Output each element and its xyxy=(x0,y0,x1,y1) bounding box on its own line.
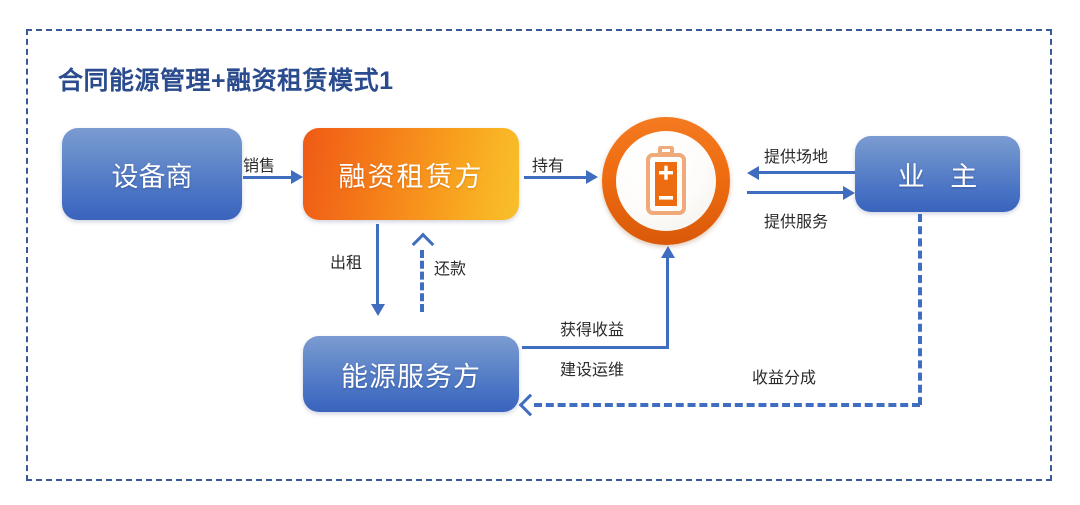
edge-label-repayment: 还款 xyxy=(434,255,466,279)
edge-line-esco-to-asset-horizontal xyxy=(522,346,669,349)
node-owner[interactable]: 业 主 xyxy=(855,136,1020,212)
node-equipment-supplier-label: 设备商 xyxy=(112,155,193,194)
node-energy-service-provider[interactable]: 能源服务方 xyxy=(303,336,519,412)
edge-line-provide-site xyxy=(759,171,855,174)
edge-line-repayment xyxy=(420,250,424,312)
edge-line-revenue-share-horizontal xyxy=(534,403,920,407)
edge-line-revenue-share-vertical xyxy=(918,214,922,405)
node-owner-label: 业 主 xyxy=(898,155,987,194)
edge-label-provide-service: 提供服务 xyxy=(764,208,828,232)
battery-icon xyxy=(643,146,689,216)
node-energy-storage-asset[interactable] xyxy=(602,117,730,245)
diagram-title: 合同能源管理+融资租赁模式1 xyxy=(58,61,394,97)
node-equipment-supplier[interactable]: 设备商 xyxy=(62,128,242,220)
node-energy-service-provider-label: 能源服务方 xyxy=(341,355,481,394)
edge-label-sale: 销售 xyxy=(243,152,275,176)
node-financial-lessor[interactable]: 融资租赁方 xyxy=(303,128,519,220)
edge-label-gain-revenue: 获得收益 xyxy=(560,316,624,340)
edge-line-provide-service xyxy=(747,191,843,194)
edge-line-sale xyxy=(243,176,291,179)
edge-line-hold xyxy=(524,176,586,179)
edge-label-provide-site: 提供场地 xyxy=(764,143,828,167)
edge-line-esco-to-asset-vertical xyxy=(666,258,669,348)
diagram-canvas: 合同能源管理+融资租赁模式1 设备商 融资租赁方 业 主 xyxy=(0,0,1080,505)
edge-label-build-operate: 建设运维 xyxy=(560,356,624,380)
edge-arrow-provide-site xyxy=(747,166,759,180)
edge-label-lease-out: 出租 xyxy=(330,249,362,273)
node-financial-lessor-label: 融资租赁方 xyxy=(339,155,484,194)
edge-arrow-esco-to-asset xyxy=(661,246,675,258)
edge-arrow-lease-out xyxy=(371,304,385,316)
edge-label-revenue-share: 收益分成 xyxy=(752,364,816,388)
circle-inner-face xyxy=(616,131,716,231)
edge-arrow-hold xyxy=(586,170,598,184)
edge-arrow-sale xyxy=(291,170,303,184)
edge-arrow-provide-service xyxy=(843,186,855,200)
edge-line-lease-out xyxy=(376,224,379,306)
edge-label-hold: 持有 xyxy=(532,152,564,176)
